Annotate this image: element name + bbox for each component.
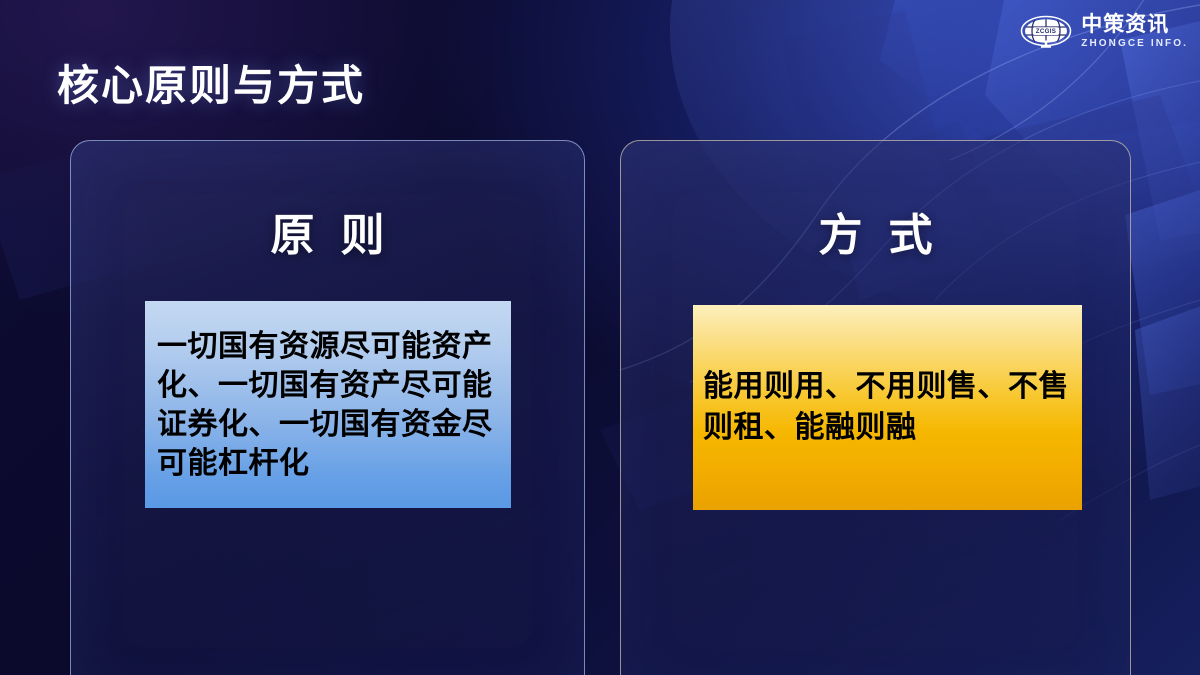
method-content-box: 能用则用、不用则售、不售则租、能融则融 [693,305,1082,510]
method-content-text: 能用则用、不用则售、不售则租、能融则融 [703,367,1074,449]
globe-oval-logo-icon: ZCGIS [1020,13,1072,49]
panel-principle-heading: 原则 [71,199,584,263]
panel-method-heading: 方式 [621,199,1130,263]
page-title: 核心原则与方式 [57,52,365,113]
brand-logo: ZCGIS 中策资讯 ZHONGCE INFO. [1020,13,1188,49]
logo-text-block: 中策资讯 ZHONGCE INFO. [1081,14,1188,49]
logo-company-en: ZHONGCE INFO. [1081,39,1188,49]
panel-method: 方式 能用则用、不用则售、不售则租、能融则融 [620,140,1131,675]
logo-company-cn: 中策资讯 [1081,14,1188,35]
svg-text:ZCGIS: ZCGIS [1036,28,1056,35]
principle-content-box: 一切国有资源尽可能资产化、一切国有资产尽可能证券化、一切国有资金尽可能杠杆化 [145,301,511,508]
panel-principle: 原则 一切国有资源尽可能资产化、一切国有资产尽可能证券化、一切国有资金尽可能杠杆… [70,140,585,675]
principle-content-text: 一切国有资源尽可能资产化、一切国有资产尽可能证券化、一切国有资金尽可能杠杆化 [157,327,503,483]
slide-canvas: ZCGIS 中策资讯 ZHONGCE INFO. 核心原则与方式 原则 一切国有… [0,0,1200,675]
